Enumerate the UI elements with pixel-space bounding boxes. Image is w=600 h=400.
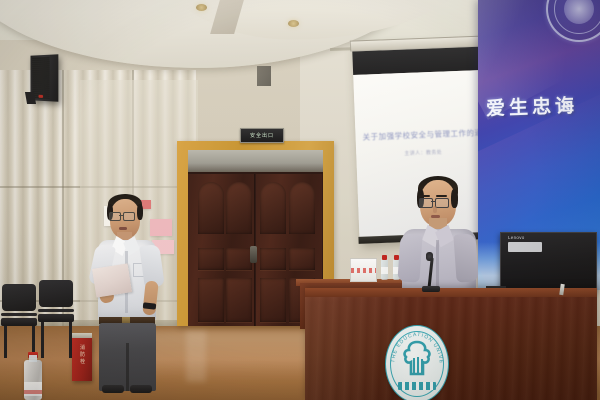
banner-slogan: 爱生忠诲 [486,90,600,121]
chair-backrest [2,284,36,311]
speaker-grille [32,57,49,100]
door-panel [226,278,252,322]
polo-sleeve-right [453,233,478,282]
door-arch-panel [198,182,224,234]
shoe-left [102,385,124,393]
eyebrow-right [436,195,447,197]
wall-loudspeaker [31,54,59,101]
floor-reflection [186,330,206,382]
monitor-brand-label: Lenovo [508,235,525,240]
door-arch-panel [289,182,315,234]
svg-text:THE EDUCATION UNIVERSITY: THE EDUCATION UNIVERSITY [386,326,444,364]
speaking-podium [305,288,597,400]
tissue-box [350,258,377,282]
trouser-leg-seam [126,343,129,391]
door-panel [260,278,286,322]
door-panel [198,248,224,270]
chair-leg [4,326,7,358]
bottle-label-accent [24,390,42,394]
forearm-right [142,280,158,315]
microphone-base [422,286,440,292]
eyeglasses-lens-right [435,198,449,208]
person-presenter [398,176,498,306]
eyeglasses-bridge [119,215,123,216]
door-panel [226,248,252,270]
chair-armrest [38,309,74,312]
door-transom-window [188,150,323,174]
door-panel [198,278,224,322]
podium-top-edge [305,288,597,297]
door-leaf-left[interactable] [188,174,255,326]
wristwatch [143,302,157,309]
bottle-cap [382,255,387,260]
eyeglasses-bridge [431,201,435,202]
wall-vent [257,66,271,86]
eyebrow-left [419,195,430,197]
exit-sign-label: 安全出口 [250,132,274,139]
monitor-sticker [508,242,542,252]
eyeglasses-lens-left [419,198,433,208]
crest-core [564,0,594,24]
ceiling-downlight [288,20,299,27]
chair-seat [1,318,37,326]
bottle-body [24,360,42,400]
ceiling-downlight [196,4,207,11]
tissue-box-stripe [351,268,376,273]
chair-seat [38,314,74,322]
photo-scene: 关于加强学校安全与管理工作的通知 主讲人：教务处 爱生忠诲 安全出口 [0,0,600,400]
exit-sign: 安全出口 [240,128,284,143]
polo-sleeve-left [397,233,422,282]
nose [433,206,437,213]
person-reader [84,193,184,393]
chair-armrest [1,313,37,316]
school-seal-icon: THE EDUCATION UNIVERSITY [385,325,449,400]
water-bottle [381,259,388,280]
eyeglasses-lens-left [109,212,121,221]
door-panel [289,248,315,270]
eyeglasses-lens-right [123,212,135,221]
computer-monitor[interactable]: Lenovo [500,232,597,294]
shoe-right [130,385,152,393]
door-panel [260,248,286,270]
door-handle[interactable] [250,246,257,263]
door-arch-panel [226,182,252,234]
held-paper-sheet [92,263,132,297]
hair-side [451,189,458,208]
chair-backrest [39,280,73,307]
seal-arc-text: THE EDUCATION UNIVERSITY [386,326,448,400]
speaker-badge-icon [39,95,44,98]
bottle-label [381,267,388,274]
foreground-water-bottle [24,352,42,400]
hair-side [137,204,143,220]
mouth [119,227,127,230]
door-arch-panel [260,182,286,234]
speaker-mount-bracket [25,92,36,104]
